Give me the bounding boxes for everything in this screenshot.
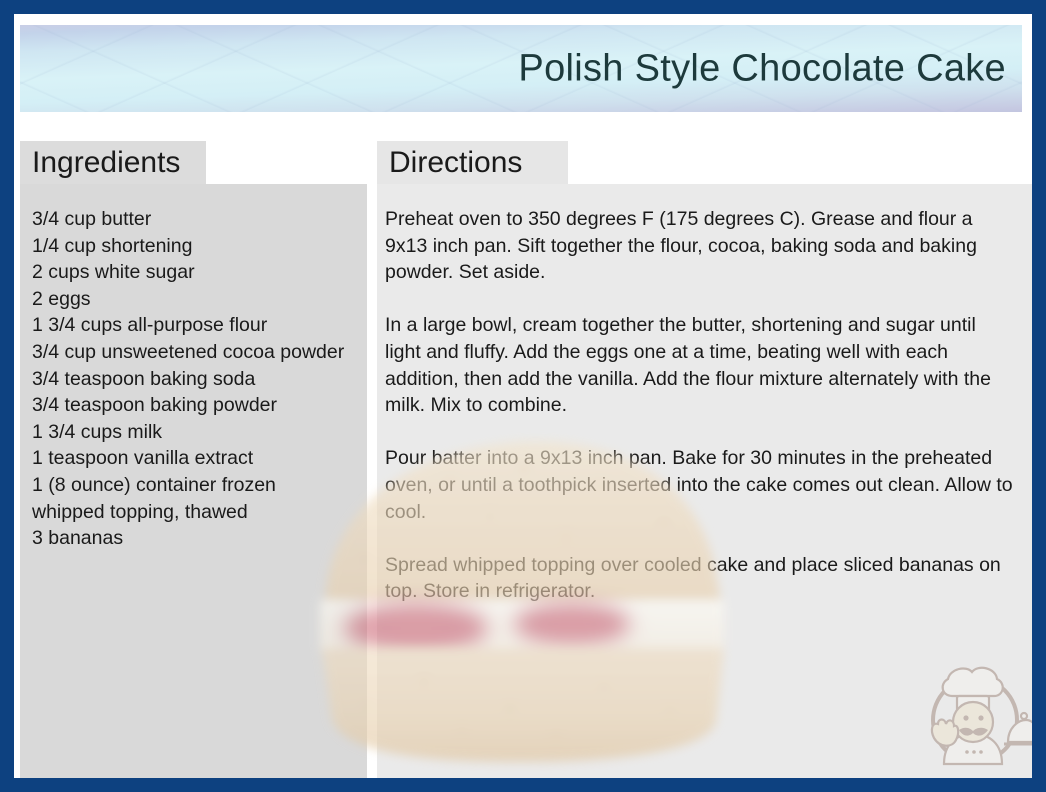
direction-step: In a large bowl, cream together the butt…: [385, 312, 1014, 418]
list-item: 1/4 cup shortening: [32, 233, 351, 260]
direction-step: Pour batter into a 9x13 inch pan. Bake f…: [385, 445, 1014, 525]
list-item: 3/4 teaspoon baking soda: [32, 366, 351, 393]
directions-panel: Preheat oven to 350 degrees F (175 degre…: [377, 184, 1032, 789]
list-item: 1 3/4 cups milk: [32, 419, 351, 446]
page-title: Polish Style Chocolate Cake: [518, 47, 1006, 90]
tab-ingredients: Ingredients: [20, 141, 206, 186]
list-item: 2 eggs: [32, 286, 351, 313]
list-item: 1 teaspoon vanilla extract: [32, 445, 351, 472]
recipe-card: Polish Style Chocolate Cake Ingredients …: [0, 0, 1046, 792]
ingredients-panel: 3/4 cup butter 1/4 cup shortening 2 cups…: [20, 184, 367, 789]
list-item: 2 cups white sugar: [32, 259, 351, 286]
list-item: 3/4 cup butter: [32, 206, 351, 233]
tab-directions-label: Directions: [377, 141, 568, 186]
list-item: 1 3/4 cups all-purpose flour: [32, 312, 351, 339]
list-item: 3 bananas: [32, 525, 351, 552]
list-item: 3/4 teaspoon baking powder: [32, 392, 351, 419]
ingredient-list: 3/4 cup butter 1/4 cup shortening 2 cups…: [32, 206, 351, 552]
title-banner: Polish Style Chocolate Cake: [20, 25, 1022, 112]
list-item: 3/4 cup unsweetened cocoa powder: [32, 339, 351, 366]
direction-step: Spread whipped topping over cooled cake …: [385, 552, 1014, 605]
tab-directions: Directions: [377, 141, 568, 186]
list-item: 1 (8 ounce) container frozen whipped top…: [32, 472, 351, 525]
direction-step: Preheat oven to 350 degrees F (175 degre…: [385, 206, 1014, 286]
direction-steps: Preheat oven to 350 degrees F (175 degre…: [385, 206, 1014, 605]
tab-ingredients-label: Ingredients: [20, 141, 206, 186]
